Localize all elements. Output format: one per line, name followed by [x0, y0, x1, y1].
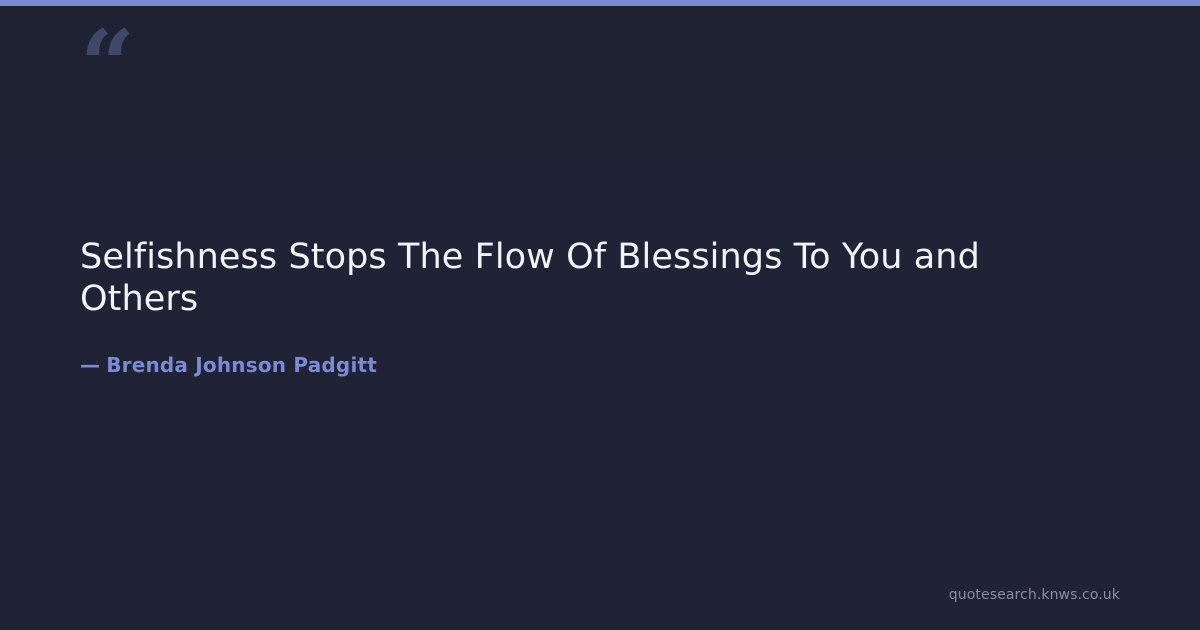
quote-card: “ Selfishness Stops The Flow Of Blessing… — [0, 0, 1200, 630]
top-accent-bar — [0, 0, 1200, 6]
background-band — [0, 0, 1200, 160]
quote-content: Selfishness Stops The Flow Of Blessings … — [80, 236, 1120, 378]
quote-attribution: —Brenda Johnson Padgitt — [80, 320, 1120, 378]
attribution-author: Brenda Johnson Padgitt — [106, 353, 377, 377]
quote-text: Selfishness Stops The Flow Of Blessings … — [80, 236, 1065, 320]
attribution-dash: — — [80, 352, 100, 378]
footer-site-url: quotesearch.knws.co.uk — [949, 586, 1120, 604]
quotation-mark-icon: “ — [80, 18, 133, 114]
